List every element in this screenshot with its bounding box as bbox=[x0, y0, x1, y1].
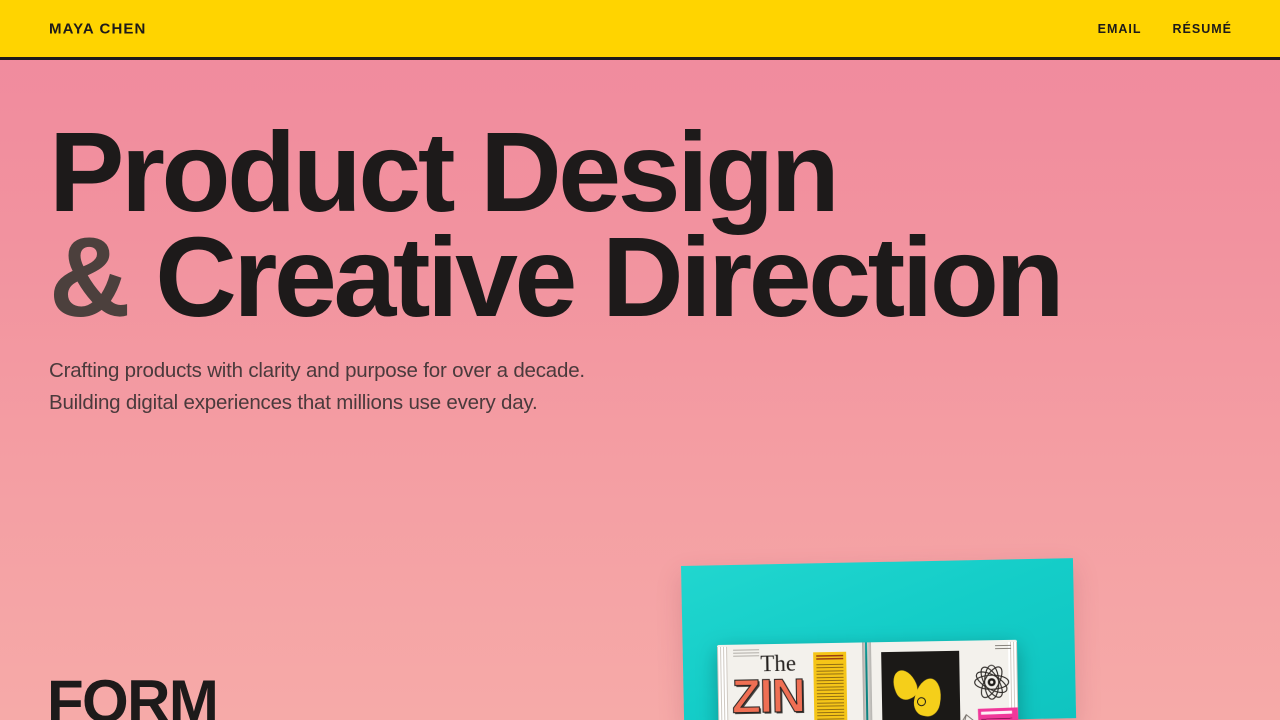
page-title: Product Design& Creative Direction bbox=[49, 120, 1149, 330]
magazine-right-page bbox=[867, 640, 1019, 720]
magazine-black-panel bbox=[881, 651, 960, 720]
main-navigation: EMAIL RÉSUMÉ bbox=[1098, 22, 1232, 36]
droplet-shape-icon bbox=[912, 676, 945, 718]
sidebar-heading-lines bbox=[816, 655, 843, 660]
magazine-yellow-sidebar bbox=[813, 652, 847, 720]
hero-heading-line-2: Creative Direction bbox=[155, 214, 1061, 340]
showcase-image: The ZIN bbox=[676, 560, 1086, 720]
atom-diagram-icon bbox=[971, 662, 1012, 703]
open-magazine: The ZIN bbox=[717, 640, 1019, 720]
nav-link-email[interactable]: EMAIL bbox=[1098, 22, 1142, 36]
sticky-note-heading bbox=[981, 711, 1012, 715]
brand-name[interactable]: MAYA CHEN bbox=[49, 20, 146, 37]
section-heading-form: FORM bbox=[47, 672, 217, 720]
magazine-folio-mark bbox=[995, 645, 1011, 651]
magazine-gutter-shadow bbox=[862, 642, 873, 720]
page-edge-stack-left bbox=[717, 647, 729, 720]
magazine-sticky-note bbox=[978, 707, 1019, 720]
magazine-title: ZIN bbox=[731, 671, 805, 719]
magazine-left-page: The ZIN bbox=[717, 642, 867, 720]
wireframe-sketch-icon bbox=[954, 710, 980, 720]
hero-subtitle-line-1: Crafting products with clarity and purpo… bbox=[49, 359, 585, 382]
page-root: MAYA CHEN EMAIL RÉSUMÉ Product Design& C… bbox=[0, 0, 1280, 720]
site-header: MAYA CHEN EMAIL RÉSUMÉ bbox=[0, 0, 1280, 60]
sidebar-body-lines bbox=[816, 664, 844, 720]
magazine-running-head bbox=[733, 649, 759, 657]
nav-link-resume[interactable]: RÉSUMÉ bbox=[1173, 22, 1232, 36]
hero-subtitle-line-2: Building digital experiences that millio… bbox=[49, 391, 537, 414]
hero-subtitle: Crafting products with clarity and purpo… bbox=[49, 355, 585, 420]
hero-ampersand: & bbox=[49, 214, 127, 340]
